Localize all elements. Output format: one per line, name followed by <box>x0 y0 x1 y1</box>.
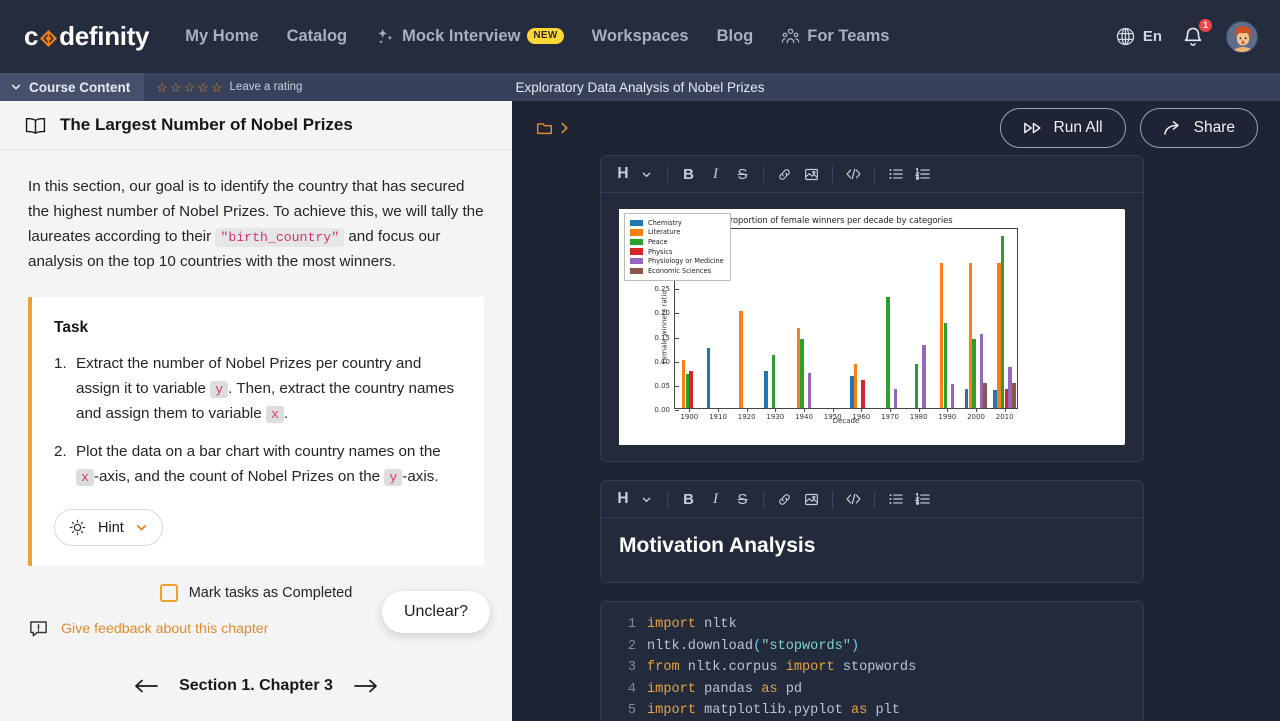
bullet-list-icon[interactable] <box>882 486 909 513</box>
chart-ytick: 0.05 <box>654 382 675 390</box>
star-3[interactable]: ☆ <box>184 81 196 94</box>
chart-legend-label: Economic Sciences <box>648 267 711 275</box>
task-list: Extract the number of Nobel Prizes per c… <box>54 352 462 489</box>
lesson-header: The Largest Number of Nobel Prizes <box>0 101 512 150</box>
code-line-content: nltk.download("stopwords") <box>647 636 859 658</box>
feedback-link[interactable]: Give feedback about this chapter <box>61 621 268 637</box>
mark-tasks-completed-checkbox[interactable] <box>160 584 178 602</box>
code-line-content: from nltk.corpus import stopwords <box>647 657 916 679</box>
toolbar-strikethrough-button[interactable]: S <box>729 486 756 513</box>
nav-label: Mock Interview <box>402 27 520 46</box>
chart-bar <box>944 323 947 408</box>
lesson-panel: The Largest Number of Nobel Prizes In th… <box>0 101 512 721</box>
chevron-down-icon[interactable] <box>633 486 660 513</box>
feedback-bubble-icon <box>28 618 49 639</box>
chart-xtick: 1950 <box>824 408 842 421</box>
diamond-arrows-icon <box>39 29 58 48</box>
numbered-list-icon[interactable] <box>909 486 936 513</box>
code-token: nltk.corpus <box>680 660 786 675</box>
chapter-pager: Section 1. Chapter 3 <box>0 655 512 721</box>
chart-xtick: 1960 <box>852 408 870 421</box>
chart-bar <box>808 373 811 408</box>
notification-count-badge: 1 <box>1198 18 1213 33</box>
book-icon <box>24 116 47 135</box>
nav-item-blog[interactable]: Blog <box>703 27 768 46</box>
code-brackets-icon[interactable] <box>840 486 867 513</box>
code-token: matplotlib.pyplot <box>696 703 851 718</box>
nav-label: Blog <box>717 27 754 46</box>
course-content-toggle[interactable]: Course Content <box>0 73 144 101</box>
code-brackets-icon[interactable] <box>840 161 867 188</box>
new-badge: NEW <box>527 28 563 44</box>
star-2[interactable]: ☆ <box>170 81 182 94</box>
fast-forward-icon <box>1023 121 1043 135</box>
code-line-number: 2 <box>617 636 636 658</box>
markdown-heading: Motivation Analysis <box>619 528 1125 568</box>
nav-item-workspaces[interactable]: Workspaces <box>578 27 703 46</box>
code-line-number: 3 <box>617 657 636 679</box>
link-icon[interactable] <box>771 486 798 513</box>
task2-var-x: x <box>76 469 94 486</box>
chart-bar <box>915 364 918 408</box>
chart-ytick: 0.15 <box>654 334 675 342</box>
task1-var-x: x <box>266 406 284 423</box>
code-token: nltk <box>696 617 737 632</box>
notebook-header: Run All Share <box>512 101 1280 155</box>
chart-bar <box>800 339 803 408</box>
code-line: 2nltk.download("stopwords") <box>601 636 1143 658</box>
code-token: from <box>647 660 680 675</box>
chart-legend-label: Peace <box>648 238 668 246</box>
chevron-down-icon <box>10 81 22 93</box>
cell-toolbar: H B I S <box>601 481 1143 518</box>
nav-item-mock-interview[interactable]: Mock Interview NEW <box>361 27 578 47</box>
code-line: 1import nltk <box>601 614 1143 636</box>
people-icon <box>781 27 800 46</box>
code-token: as <box>761 682 777 697</box>
toolbar-divider <box>874 491 875 508</box>
course-content-label: Course Content <box>29 80 130 95</box>
chevron-right-icon[interactable] <box>559 120 570 136</box>
code-line-content: import matplotlib.pyplot as plt <box>647 700 900 721</box>
code-line-number: 4 <box>617 679 636 701</box>
inline-code-birth-country: "birth_country" <box>215 228 344 247</box>
toolbar-strikethrough-button[interactable]: S <box>729 161 756 188</box>
toolbar-bold-button[interactable]: B <box>675 161 702 188</box>
chart-xtick: 1920 <box>738 408 756 421</box>
chart-legend-label: Literature <box>648 228 680 236</box>
toolbar-bold-button[interactable]: B <box>675 486 702 513</box>
chart-bar <box>854 364 857 408</box>
chart-ytick: 0.00 <box>654 406 675 414</box>
toolbar-divider <box>763 491 764 508</box>
nav-item-catalog[interactable]: Catalog <box>273 27 362 46</box>
code-line: 5import matplotlib.pyplot as plt <box>601 700 1143 721</box>
toolbar-divider <box>832 491 833 508</box>
matplotlib-figure: The proportion of female winners per dec… <box>619 209 1125 445</box>
chart-bar <box>707 348 710 408</box>
chart-bar <box>894 389 897 408</box>
unclear-button[interactable]: Unclear? <box>382 591 490 633</box>
numbered-list-icon[interactable] <box>909 161 936 188</box>
toolbar-divider <box>667 166 668 183</box>
chart-xtick: 1970 <box>881 408 899 421</box>
toolbar-divider <box>874 166 875 183</box>
code-token: pd <box>778 682 802 697</box>
chart-bar <box>739 311 742 408</box>
task2-text-b: -axis, and the count of Nobel Prizes on … <box>94 468 384 485</box>
code-token: "stopwords" <box>761 639 851 654</box>
chart-legend-swatch <box>630 239 643 246</box>
toolbar-divider <box>763 166 764 183</box>
page-title: The Largest Number of Nobel Prizes <box>60 115 353 135</box>
code-token: import <box>647 682 696 697</box>
breadcrumb[interactable] <box>536 120 570 136</box>
task2-text-c: -axis. <box>402 468 438 485</box>
chart-bar <box>886 297 889 408</box>
chevron-down-icon <box>135 521 148 534</box>
code-token: pandas <box>696 682 761 697</box>
chart-legend-item: Economic Sciences <box>630 266 724 276</box>
mark-completed-label: Mark tasks as Completed <box>189 585 353 601</box>
toolbar-heading-button[interactable]: H <box>613 161 633 188</box>
toolbar-heading-button[interactable]: H <box>613 486 633 513</box>
task-list-item-1: Extract the number of Nobel Prizes per c… <box>54 352 462 426</box>
course-subbar: Course Content ☆ ☆ ☆ ☆ ☆ Leave a rating … <box>0 73 1280 101</box>
star-4[interactable]: ☆ <box>197 81 209 94</box>
lightbulb-icon <box>68 518 87 537</box>
code-token: nltk.download <box>647 639 753 654</box>
logo-text-right: definity <box>59 21 149 52</box>
task-heading: Task <box>54 319 462 337</box>
chart-legend-label: Chemistry <box>648 219 682 227</box>
chart-xtick: 1940 <box>795 408 813 421</box>
code-token: plt <box>867 703 900 718</box>
chart-legend: ChemistryLiteraturePeacePhysicsPhysiolog… <box>624 213 731 281</box>
chart-xtick: 1980 <box>910 408 928 421</box>
chart-xtick: 2010 <box>996 408 1014 421</box>
chart-legend-swatch <box>630 268 643 275</box>
notebook-actions: Run All Share <box>1000 108 1259 148</box>
task1-text-c: . <box>284 405 288 422</box>
markdown-editor-area[interactable]: Motivation Analysis <box>601 518 1143 582</box>
nav-label: My Home <box>185 27 258 46</box>
arrow-left-icon[interactable] <box>133 678 159 694</box>
code-token: ) <box>851 639 859 654</box>
top-navbar: c definity My Home Catalog Moc <box>0 0 1280 73</box>
code-token: import <box>786 660 835 675</box>
language-label: En <box>1143 28 1162 45</box>
folder-icon[interactable] <box>536 120 553 136</box>
code-token: import <box>647 703 696 718</box>
pager-label: Section 1. Chapter 3 <box>179 677 333 695</box>
chart-bar <box>972 339 975 408</box>
codefinity-logo[interactable]: c definity <box>24 21 149 52</box>
toolbar-divider <box>832 166 833 183</box>
run-all-button[interactable]: Run All <box>1000 108 1126 148</box>
bullet-list-icon[interactable] <box>882 161 909 188</box>
code-token: import <box>647 617 696 632</box>
chart-xtick: 1900 <box>680 408 698 421</box>
chart-legend-swatch <box>630 248 643 255</box>
chart-legend-label: Physiology or Medicine <box>648 257 724 265</box>
notebook-cell-markdown: H B I S <box>600 480 1144 583</box>
chart-bar <box>764 371 767 408</box>
hint-label: Hint <box>98 520 124 536</box>
arrow-right-icon[interactable] <box>353 678 379 694</box>
nav-label: For Teams <box>807 27 889 46</box>
chart-bar <box>1001 236 1004 408</box>
navbar-right-actions: En 1 <box>1115 21 1258 53</box>
chart-output: The proportion of female winners per dec… <box>601 193 1143 461</box>
chart-ytick: 0.10 <box>654 358 675 366</box>
chart-legend-item: Physiology or Medicine <box>630 256 724 266</box>
rating-widget: ☆ ☆ ☆ ☆ ☆ Leave a rating <box>144 81 302 94</box>
chart-xtick: 2000 <box>967 408 985 421</box>
star-5[interactable]: ☆ <box>211 81 223 94</box>
chart-legend-item: Peace <box>630 237 724 247</box>
star-rating[interactable]: ☆ ☆ ☆ ☆ ☆ <box>156 81 222 94</box>
notifications-button[interactable]: 1 <box>1180 23 1208 51</box>
toolbar-italic-button[interactable]: I <box>702 486 729 513</box>
chart-legend-item: Literature <box>630 228 724 238</box>
chart-bar <box>1012 383 1015 408</box>
task2-text-a: Plot the data on a bar chart with countr… <box>76 443 441 460</box>
chart-legend-label: Physics <box>648 248 672 256</box>
task1-var-y: y <box>210 381 228 398</box>
share-arrow-icon <box>1163 120 1183 137</box>
task2-var-y: y <box>384 469 402 486</box>
primary-nav: My Home Catalog Mock Interview NEW Works… <box>171 27 903 47</box>
language-switcher[interactable]: En <box>1115 26 1162 47</box>
code-line-content: import nltk <box>647 614 737 636</box>
task-list-item-2: Plot the data on a bar chart with countr… <box>54 440 462 489</box>
chart-bar <box>922 345 925 408</box>
chart-bar <box>983 383 986 408</box>
image-icon[interactable] <box>798 161 825 188</box>
chart-xtick: 1990 <box>938 408 956 421</box>
notebook-cells: H B I S <box>512 155 1280 721</box>
code-token: as <box>851 703 867 718</box>
code-token: ( <box>753 639 761 654</box>
rating-label: Leave a rating <box>230 81 303 93</box>
lesson-intro-paragraph: In this section, our goal is to identify… <box>28 174 484 274</box>
code-line-number: 5 <box>617 700 636 721</box>
chart-bar <box>772 355 775 408</box>
chart-bar <box>689 371 692 408</box>
share-label: Share <box>1194 119 1235 137</box>
code-line-number: 1 <box>617 614 636 636</box>
chart-ylabel: Female winners ratio <box>661 290 669 363</box>
code-token: stopwords <box>835 660 917 675</box>
logo-text-left: c <box>24 21 38 52</box>
chart-legend-swatch <box>630 258 643 265</box>
chevron-down-icon[interactable] <box>633 161 660 188</box>
chart-bar <box>861 380 864 408</box>
chart-xtick: 1910 <box>709 408 727 421</box>
code-line: 3from nltk.corpus import stopwords <box>601 657 1143 679</box>
chart-legend-item: Chemistry <box>630 218 724 228</box>
nav-item-for-teams[interactable]: For Teams <box>767 27 903 46</box>
notebook-cell-chart: H B I S <box>600 155 1144 462</box>
lesson-body: In this section, our goal is to identify… <box>0 150 512 655</box>
toolbar-italic-button[interactable]: I <box>702 161 729 188</box>
link-icon[interactable] <box>771 161 798 188</box>
nav-item-my-home[interactable]: My Home <box>171 27 272 46</box>
chart-canvas: The proportion of female winners per dec… <box>619 209 1040 445</box>
hint-button[interactable]: Hint <box>54 509 163 546</box>
code-line: 4import pandas as pd <box>601 679 1143 701</box>
sparkles-icon <box>375 27 395 47</box>
chart-legend-item: Physics <box>630 247 724 257</box>
run-all-label: Run All <box>1054 119 1103 137</box>
notebook-panel: Run All Share H <box>512 101 1280 721</box>
chart-xtick: 1930 <box>766 408 784 421</box>
cell-toolbar: H B I S <box>601 156 1143 193</box>
globe-icon <box>1115 26 1136 47</box>
main-content: The Largest Number of Nobel Prizes In th… <box>0 101 1280 721</box>
task-card: Task Extract the number of Nobel Prizes … <box>28 297 484 566</box>
image-icon[interactable] <box>798 486 825 513</box>
chart-legend-swatch <box>630 220 643 227</box>
share-button[interactable]: Share <box>1140 108 1258 148</box>
star-1[interactable]: ☆ <box>156 81 168 94</box>
code-line-content: import pandas as pd <box>647 679 802 701</box>
user-avatar[interactable] <box>1226 21 1258 53</box>
nav-label: Workspaces <box>592 27 689 46</box>
chart-ytick: 0.20 <box>654 309 675 317</box>
notebook-cell-code[interactable]: 1import nltk2nltk.download("stopwords")3… <box>600 601 1144 721</box>
chart-bar <box>951 384 954 408</box>
toolbar-divider <box>667 491 668 508</box>
chart-ytick: 0.25 <box>654 285 675 293</box>
chart-legend-swatch <box>630 229 643 236</box>
nav-label: Catalog <box>287 27 348 46</box>
